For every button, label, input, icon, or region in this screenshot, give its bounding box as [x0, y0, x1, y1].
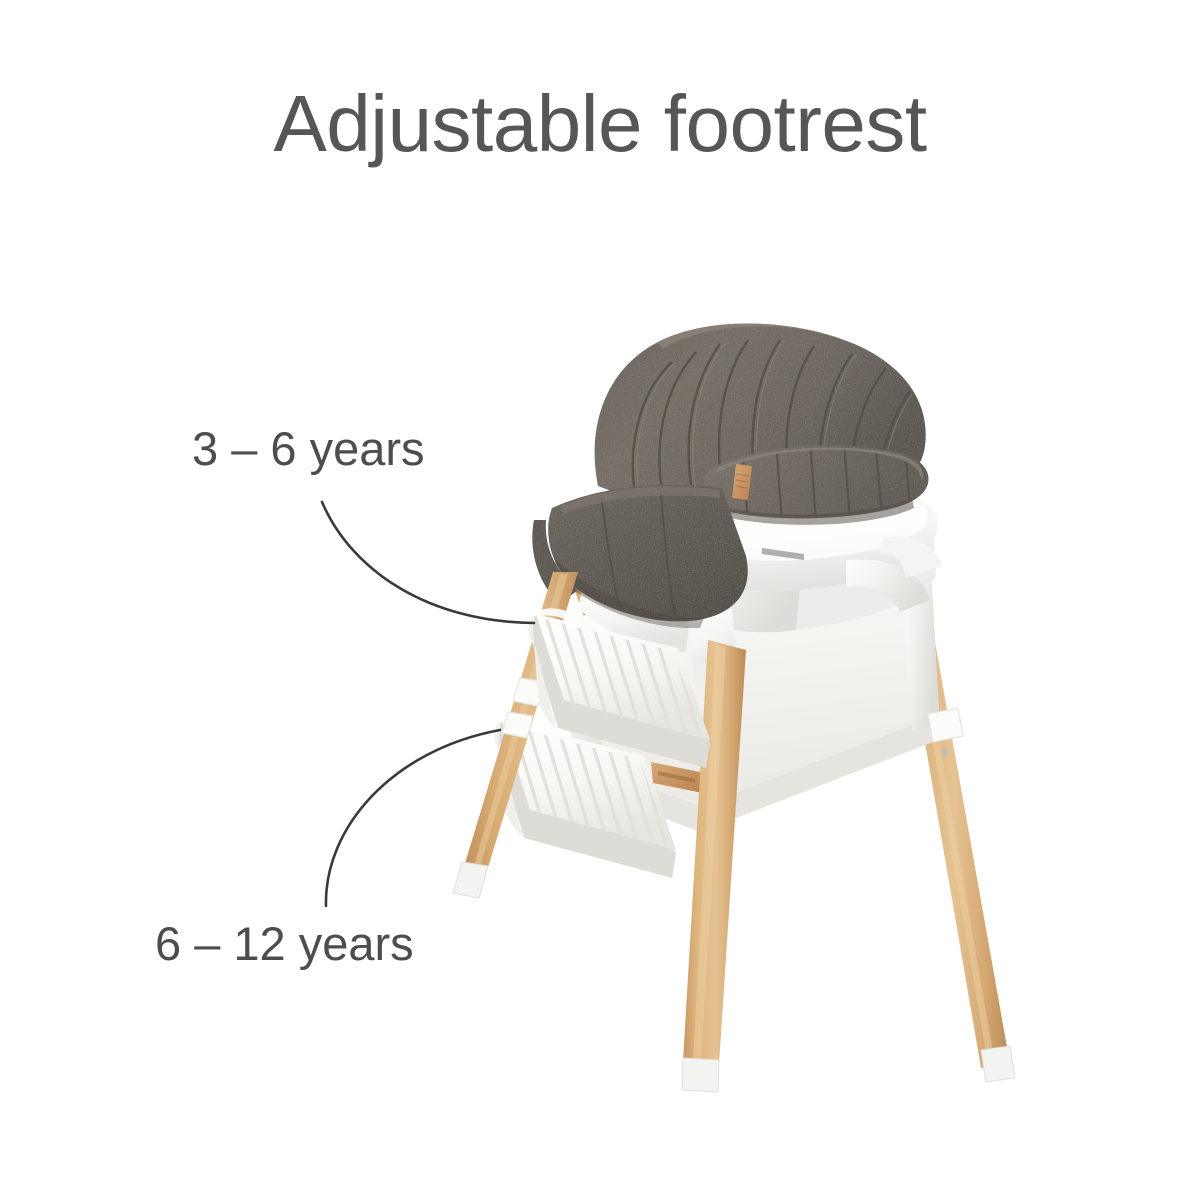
- callout-leader-upper: [322, 502, 534, 623]
- infographic-page: Adjustable footrest 3 – 6 years 6 – 12 y…: [0, 0, 1200, 1200]
- leg-collar-clamp-right: [928, 708, 963, 742]
- product-illustration: [0, 0, 1200, 1200]
- leg-collar-clamp-lower: [502, 712, 533, 738]
